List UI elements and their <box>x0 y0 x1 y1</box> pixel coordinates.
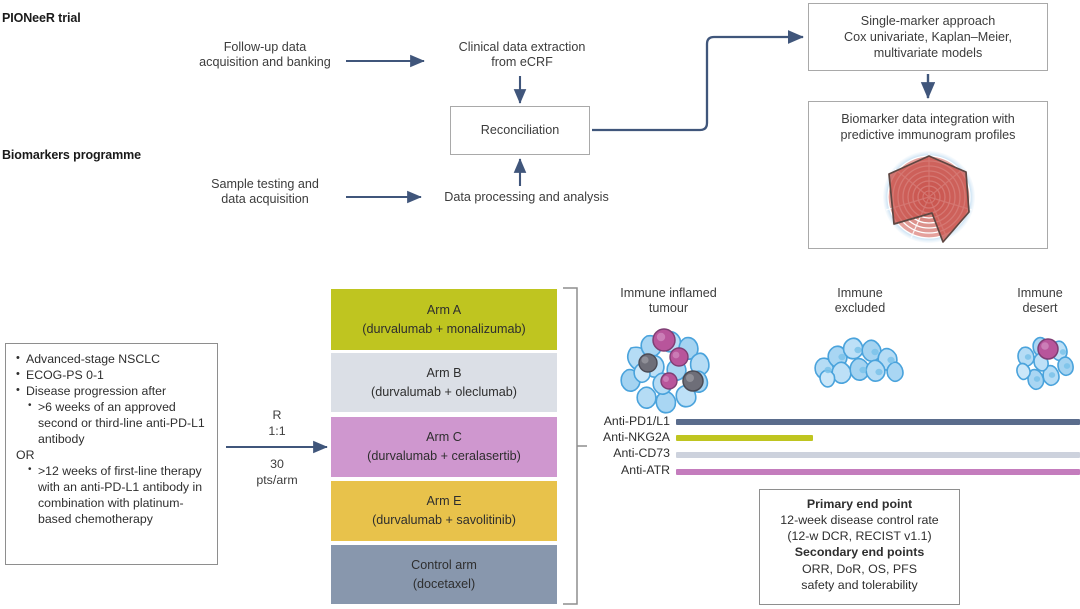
biomarker-label-anti-nkg2a: Anti-NKG2A <box>596 430 670 444</box>
workflow-reconciliation-label: Reconciliation <box>451 122 589 138</box>
biomarker-bar-anti-nkg2a <box>676 435 813 441</box>
figure-canvas: PIONeeR trial Biomarkers programme Follo… <box>0 0 1080 609</box>
primary-endpoint-line1: 12-week disease control rate <box>760 512 959 528</box>
arm-name: Control arm <box>411 556 477 575</box>
or-text: OR <box>16 448 34 462</box>
treatment-arm-c[interactable]: Arm C (durvalumab + ceralasertib) <box>331 417 557 477</box>
eligibility-criteria-box: Advanced-stage NSCLC ECOG-PS 0-1 Disease… <box>5 343 218 565</box>
arm-drugs: (durvalumab + monalizumab) <box>362 320 525 339</box>
arm-name: Arm E <box>427 492 462 511</box>
eligibility-or-label: OR <box>14 448 209 464</box>
section-label-biomarkers-programme: Biomarkers programme <box>2 148 141 162</box>
primary-endpoint-line2: (12-w DCR, RECIST v1.1) <box>760 528 959 544</box>
workflow-reconciliation-box: Reconciliation <box>450 106 590 155</box>
list-item-sub: >6 weeks of an approved second or third-… <box>14 400 209 448</box>
immune-excluded-illustration <box>812 331 910 391</box>
biomarker-bar-anti-atr <box>676 469 1080 475</box>
arm-drugs: (durvalumab + ceralasertib) <box>367 447 521 466</box>
secondary-endpoint-header: Secondary end points <box>760 544 959 560</box>
treatment-arm-b[interactable]: Arm B (durvalumab + oleclumab) <box>331 353 557 412</box>
list-item: Disease progression after <box>14 384 209 400</box>
arms-grouping-bracket <box>560 286 600 608</box>
phenotype-title-desert: Immune desert <box>1000 286 1080 317</box>
arm-name: Arm C <box>426 428 462 447</box>
list-item: ECOG-PS 0-1 <box>14 368 209 384</box>
biomarker-label-anti-cd73: Anti-CD73 <box>596 446 670 460</box>
workflow-sample-testing: Sample testing and data acquisition <box>185 177 345 208</box>
treatment-arm-e[interactable]: Arm E (durvalumab + savolitinib) <box>331 481 557 541</box>
treatment-arm-control[interactable]: Control arm (docetaxel) <box>331 545 557 604</box>
randomization-label-count: 30 <box>236 457 318 472</box>
immune-inflamed-tumour-illustration <box>617 326 719 414</box>
phenotype-title-inflamed: Immune inflamed tumour <box>596 286 741 317</box>
arm-drugs: (durvalumab + oleclumab) <box>371 383 517 402</box>
endpoints-box: Primary end point 12-week disease contro… <box>759 489 960 605</box>
workflow-followup-data: Follow-up data acquisition and banking <box>185 40 345 71</box>
arm-name: Arm B <box>427 364 462 383</box>
workflow-integration-box: Biomarker data integration with predicti… <box>808 101 1048 249</box>
biomarker-bar-anti-pd1l1 <box>676 419 1080 425</box>
list-item-sub: >12 weeks of first-line therapy with an … <box>14 464 209 528</box>
randomization-label-ratio: 1:1 <box>236 424 318 439</box>
phenotype-title-excluded: Immune excluded <box>800 286 920 317</box>
immune-desert-illustration <box>1016 330 1080 400</box>
workflow-single-marker-box: Single-marker approach Cox univariate, K… <box>808 3 1048 71</box>
immunogram-radar-chart <box>880 150 978 245</box>
secondary-endpoint-line1: ORR, DoR, OS, PFS <box>760 561 959 577</box>
biomarker-label-anti-atr: Anti-ATR <box>596 463 670 477</box>
workflow-data-processing: Data processing and analysis <box>424 190 629 205</box>
randomization-label-r: R <box>236 408 318 423</box>
biomarker-bar-anti-cd73 <box>676 452 1080 458</box>
eligibility-list: Advanced-stage NSCLC ECOG-PS 0-1 Disease… <box>14 352 209 528</box>
list-item: Advanced-stage NSCLC <box>14 352 209 368</box>
primary-endpoint-header: Primary end point <box>760 496 959 512</box>
workflow-integration-label: Biomarker data integration with predicti… <box>809 102 1047 143</box>
workflow-clinical-data-extraction: Clinical data extraction from eCRF <box>437 40 607 71</box>
biomarker-label-anti-pd1l1: Anti-PD1/L1 <box>596 414 670 428</box>
treatment-arm-a[interactable]: Arm A (durvalumab + monalizumab) <box>331 289 557 350</box>
workflow-single-marker-label: Single-marker approach Cox univariate, K… <box>809 13 1047 61</box>
secondary-endpoint-line2: safety and tolerability <box>760 577 959 593</box>
arm-name: Arm A <box>427 301 461 320</box>
section-label-pioneer-trial: PIONeeR trial <box>2 11 81 25</box>
arm-drugs: (docetaxel) <box>413 575 475 594</box>
arm-drugs: (durvalumab + savolitinib) <box>372 511 516 530</box>
randomization-label-ptsarm: pts/arm <box>236 473 318 488</box>
